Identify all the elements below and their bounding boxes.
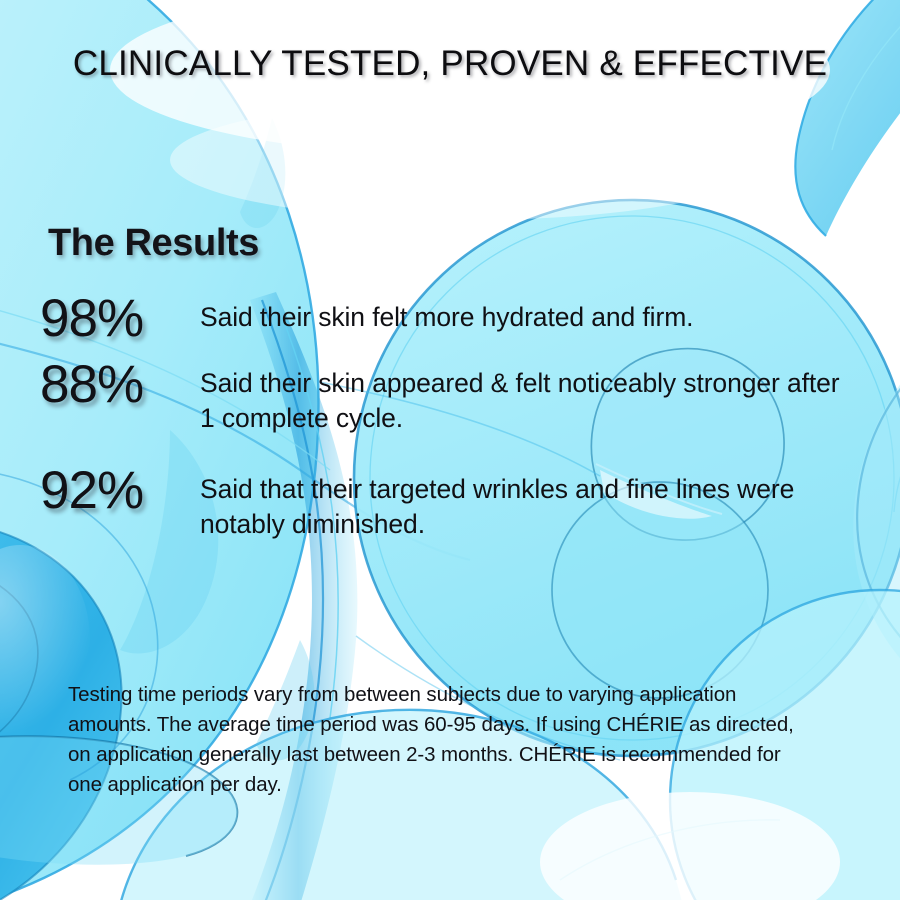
stat-description: Said that their targeted wrinkles and fi… <box>200 464 860 542</box>
disclaimer-text: Testing time periods vary from between s… <box>68 680 798 801</box>
section-heading-results: The Results <box>48 222 259 265</box>
infographic-canvas: CLINICALLY TESTED, PROVEN & EFFECTIVE Th… <box>0 0 900 900</box>
stat-description: Said their skin appeared & felt noticeab… <box>200 358 860 436</box>
stat-row: 88% Said their skin appeared & felt noti… <box>40 358 860 436</box>
stat-percentage: 92% <box>40 464 200 518</box>
stat-row: 98% Said their skin felt more hydrated a… <box>40 292 860 346</box>
page-title: CLINICALLY TESTED, PROVEN & EFFECTIVE <box>0 44 900 84</box>
stat-row: 92% Said that their targeted wrinkles an… <box>40 464 860 542</box>
stat-percentage: 98% <box>40 292 200 346</box>
results-stat-list: 98% Said their skin felt more hydrated a… <box>40 292 860 552</box>
stat-description: Said their skin felt more hydrated and f… <box>200 292 860 335</box>
content-layer: CLINICALLY TESTED, PROVEN & EFFECTIVE Th… <box>0 0 900 900</box>
stat-percentage: 88% <box>40 358 200 412</box>
